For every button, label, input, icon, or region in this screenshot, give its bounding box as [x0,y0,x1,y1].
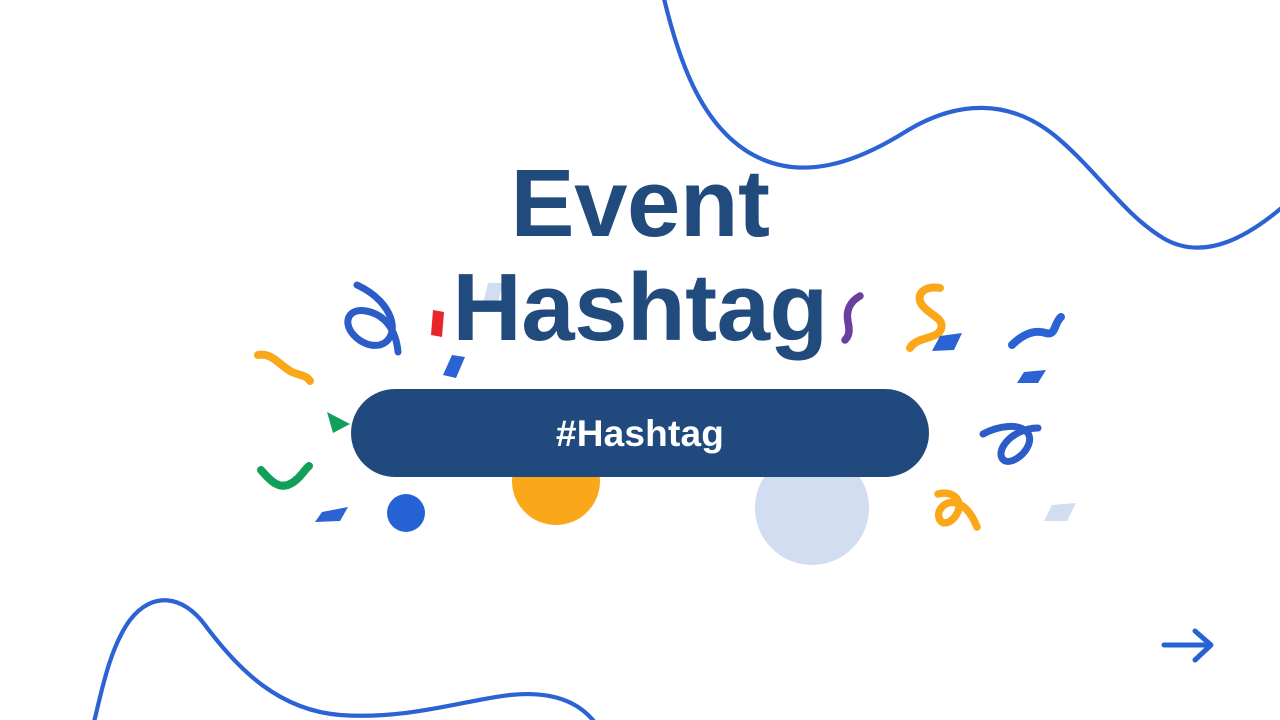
next-slide-button[interactable] [1158,622,1220,668]
page-title: Event Hashtag [452,152,827,360]
hashtag-pill-button[interactable]: #Hashtag [351,389,929,477]
content-stack: Event Hashtag #Hashtag [0,0,1280,720]
hashtag-pill-label: #Hashtag [556,415,724,452]
slide-canvas: Event Hashtag #Hashtag [0,0,1280,720]
arrow-right-icon [1158,622,1220,668]
title-line-1: Event [452,152,827,256]
title-line-2: Hashtag [452,256,827,360]
